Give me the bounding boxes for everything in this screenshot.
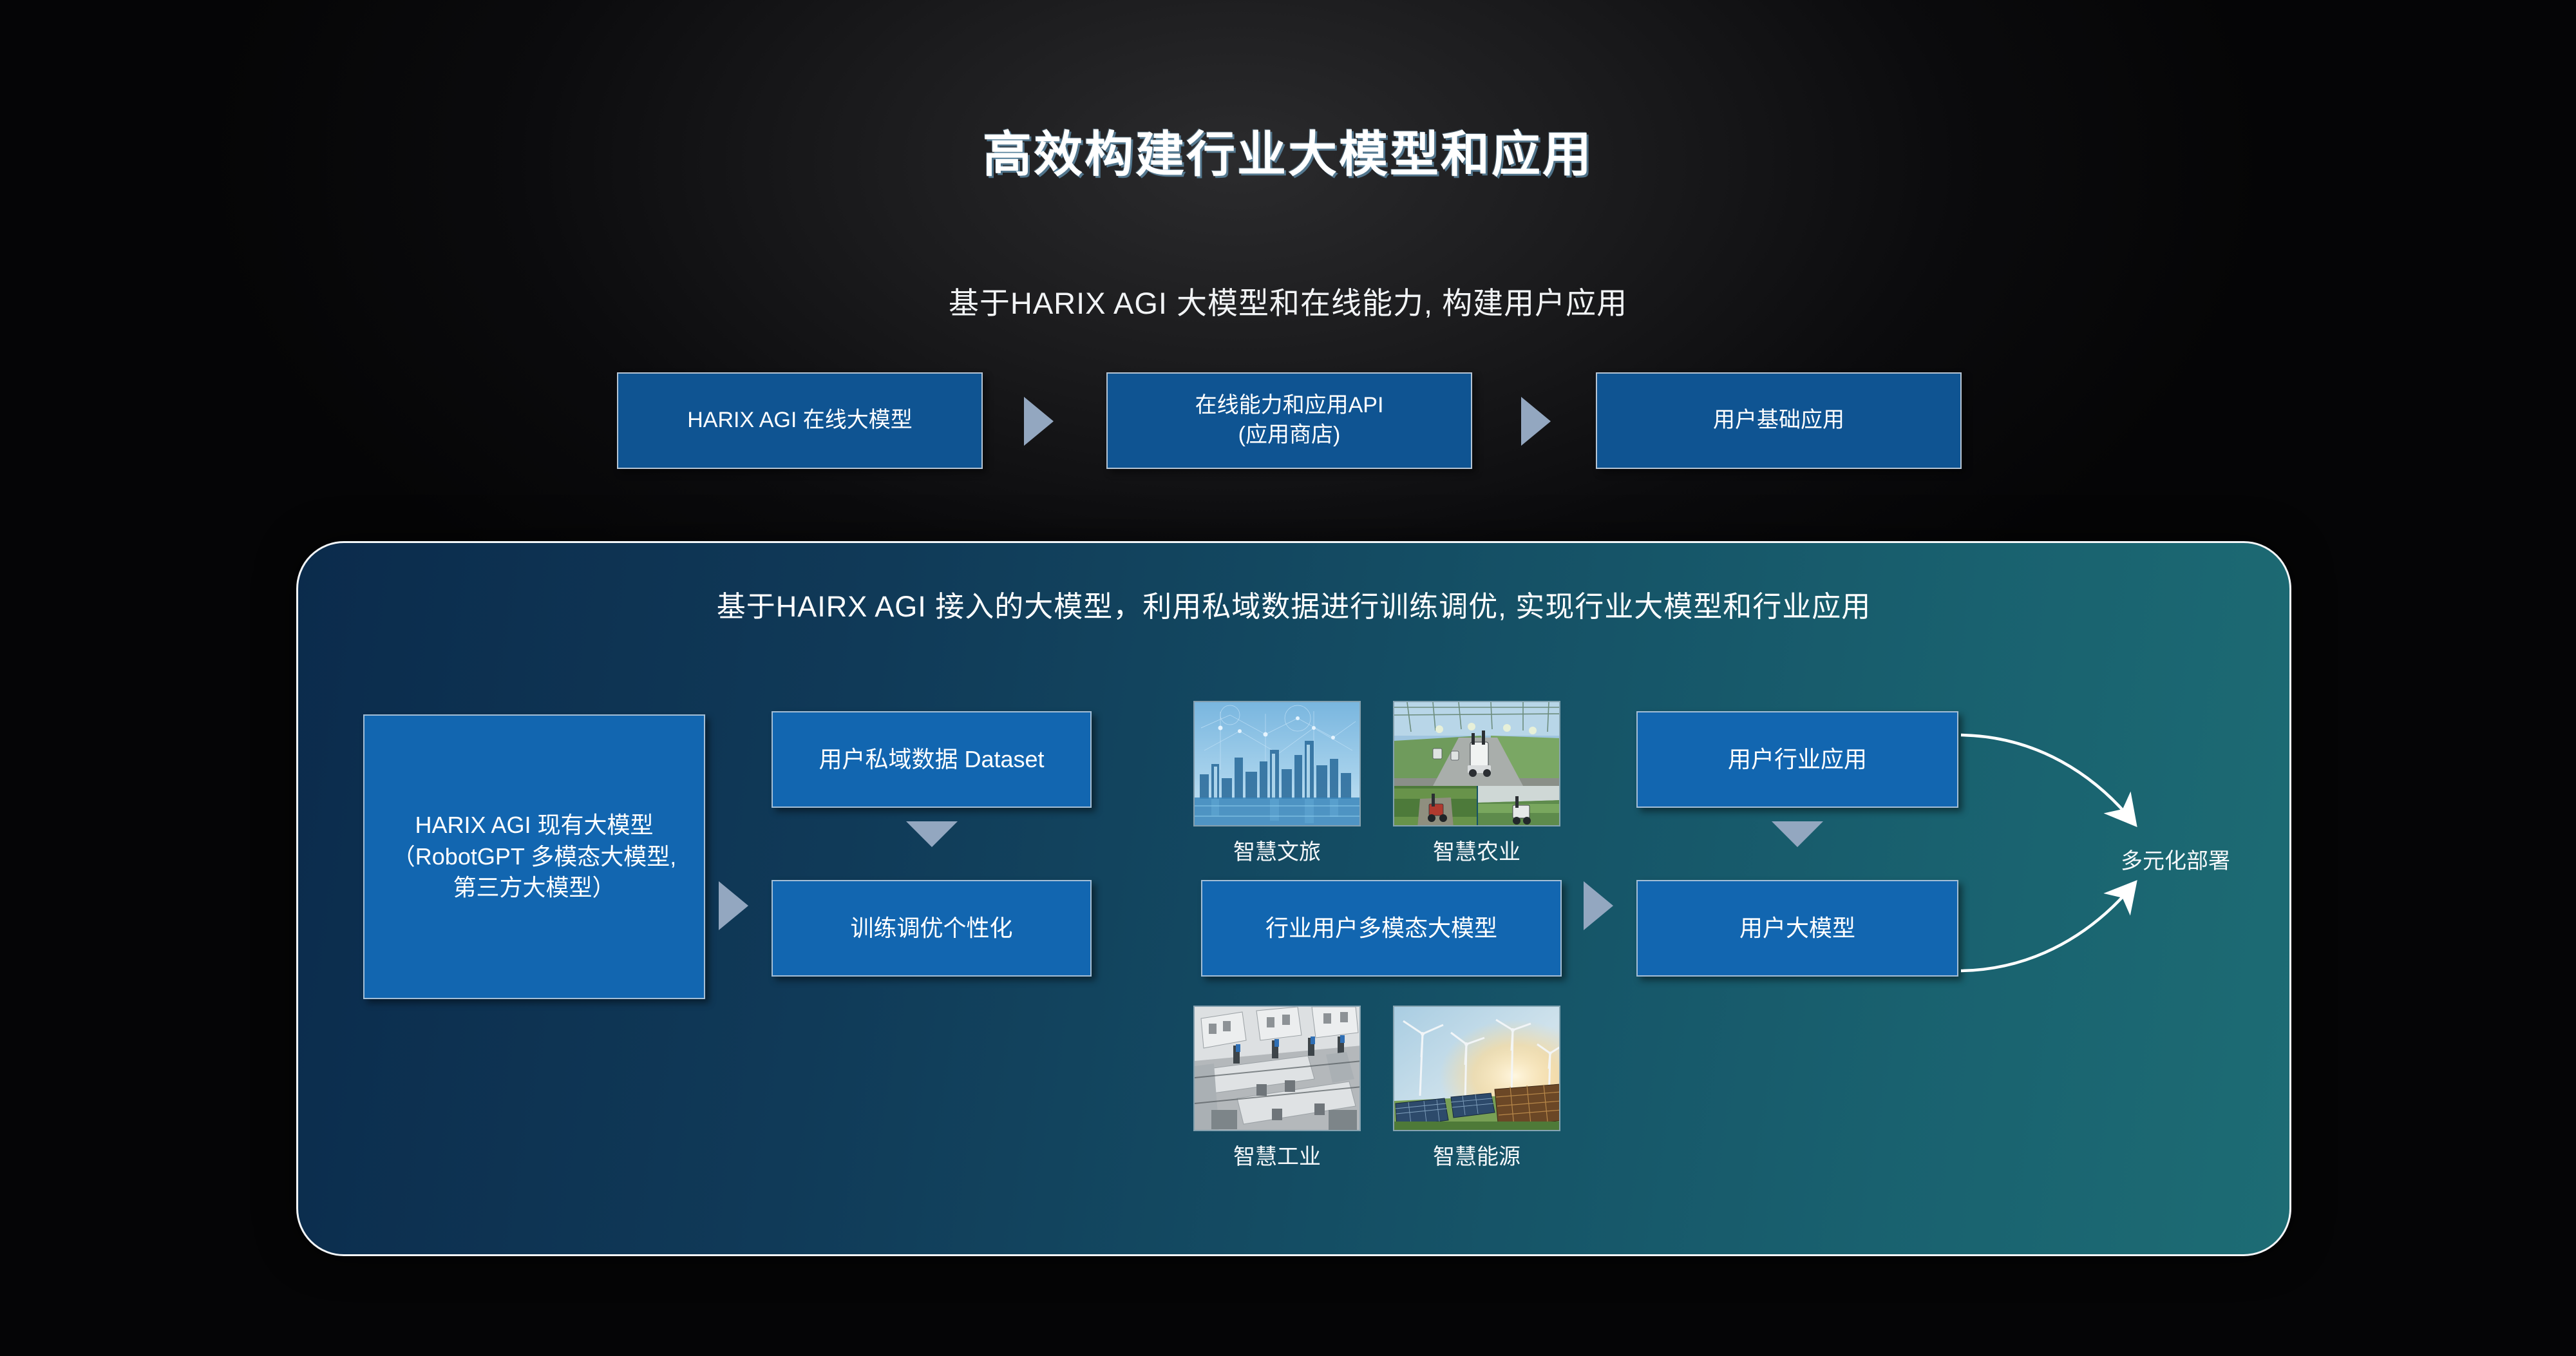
triangle-right-icon — [1024, 397, 1054, 446]
top-flow-box-label: HARIX AGI 在线大模型 — [687, 406, 913, 435]
top-flow-box-user-basic-app[interactable]: 用户基础应用 — [1596, 372, 1962, 469]
triangle-right-icon — [1521, 397, 1551, 446]
deployment-arrows — [298, 543, 2291, 1256]
top-flow-box-label-line1: 在线能力和应用API — [1195, 391, 1384, 421]
top-flow-box-label: 用户基础应用 — [1713, 406, 1844, 435]
page-subtitle: 基于HARIX AGI 大模型和在线能力, 构建用户应用 — [0, 278, 2576, 323]
deploy-label: 多元化部署 — [2121, 843, 2230, 875]
top-flow-box-online-capability-api[interactable]: 在线能力和应用API (应用商店) — [1106, 372, 1472, 469]
slide-canvas: 高效构建行业大模型和应用 基于HARIX AGI 大模型和在线能力, 构建用户应… — [0, 0, 2576, 1356]
industry-model-panel: 基于HAIRX AGI 接入的大模型，利用私域数据进行训练调优, 实现行业大模型… — [296, 541, 2291, 1256]
top-flow-box-harix-online-model[interactable]: HARIX AGI 在线大模型 — [617, 372, 983, 469]
top-flow-box-label-line2: (应用商店) — [1238, 421, 1341, 450]
page-title: 高效构建行业大模型和应用 — [0, 115, 2576, 186]
